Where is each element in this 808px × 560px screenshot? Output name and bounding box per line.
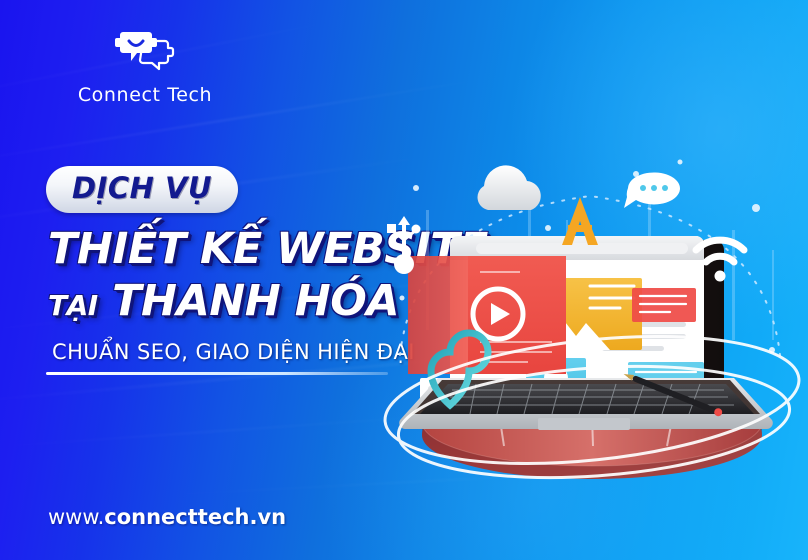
website-url[interactable]: www.connecttech.vn	[48, 505, 286, 529]
chat-bubble-logo-icon	[113, 28, 177, 78]
hero-illustration	[380, 100, 800, 500]
red-text-card[interactable]	[632, 288, 696, 322]
illustration-canvas	[380, 100, 800, 500]
subtitle-text: CHUẨN SEO, GIAO DIỆN HIỆN ĐẠI	[52, 340, 415, 364]
service-badge-label: DỊCH VỤ	[72, 174, 212, 203]
subtitle-divider	[46, 372, 388, 375]
headline-line-2-prefix: TẠI	[48, 289, 98, 322]
brand-name: Connect Tech	[50, 84, 240, 106]
url-domain: connecttech.vn	[104, 505, 286, 529]
headline-line-2: TẠI THANH HÓA	[48, 276, 399, 326]
cloud-icon	[478, 165, 541, 210]
laptop-trackpad[interactable]	[538, 418, 630, 430]
service-badge: DỊCH VỤ	[46, 166, 238, 213]
url-prefix: www.	[48, 505, 104, 529]
headline-line-2-main: THANH HÓA	[112, 276, 399, 326]
chat-bubble-icon	[624, 172, 680, 208]
brand-logo[interactable]: Connect Tech	[50, 28, 240, 106]
promotional-banner: Connect Tech DỊCH VỤ THIẾT KẾ WEBSITE TẠ…	[0, 0, 808, 560]
browser-address-bar[interactable]	[476, 243, 688, 254]
